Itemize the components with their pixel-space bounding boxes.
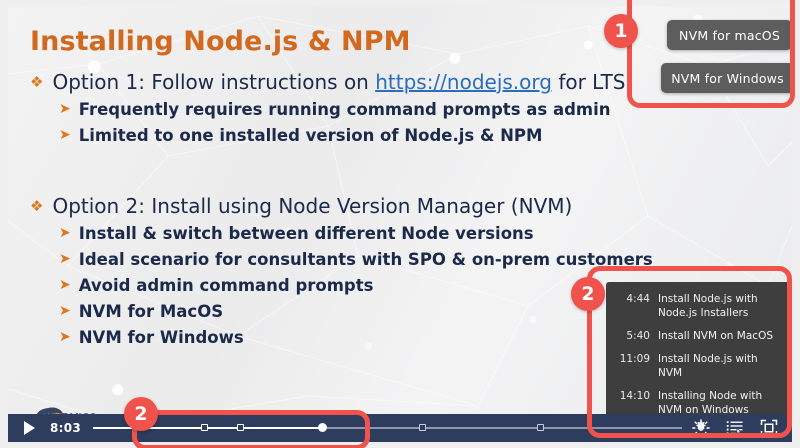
page-title: Installing Node.js & NPM bbox=[30, 26, 411, 57]
list-item-label: Frequently requires running command prom… bbox=[79, 98, 611, 121]
list-item-label: Ideal scenario for consultants with SPO … bbox=[79, 248, 653, 271]
list-item-label: NVM for Windows bbox=[79, 326, 244, 349]
list-item: ➤ NVM for Windows bbox=[59, 326, 653, 349]
progress-scrubber[interactable] bbox=[93, 414, 682, 442]
arrow-bullet-icon: ➤ bbox=[59, 222, 71, 245]
chapters-icon[interactable] bbox=[726, 419, 744, 437]
current-time-label: 8:03 bbox=[50, 421, 81, 435]
list-item: ➤ Ideal scenario for consultants with SP… bbox=[59, 248, 653, 271]
option-2-heading: ❖ Option 2: Install using Node Version M… bbox=[30, 193, 653, 219]
list-item-label: NVM for MacOS bbox=[79, 300, 223, 323]
option-1-heading-pre: Option 1: Follow instructions on bbox=[52, 70, 375, 94]
chapter-marker[interactable] bbox=[201, 424, 208, 431]
chapter-time: 14:10 bbox=[610, 389, 650, 417]
list-item-label: Limited to one installed version of Node… bbox=[79, 124, 543, 147]
list-item: ➤ Limited to one installed version of No… bbox=[59, 124, 625, 147]
list-item-label: Install & switch between different Node … bbox=[79, 222, 534, 245]
list-item: ➤ Install & switch between different Nod… bbox=[59, 222, 653, 245]
list-item-label: Avoid admin command prompts bbox=[79, 274, 374, 297]
chapter-time: 5:40 bbox=[610, 329, 650, 343]
option-2-block: ❖ Option 2: Install using Node Version M… bbox=[30, 193, 653, 349]
list-item[interactable]: 14:10 Installing Node with NVM on Window… bbox=[610, 389, 784, 417]
arrow-bullet-icon: ➤ bbox=[59, 248, 71, 271]
video-player-screen: Installing Node.js & NPM ❖ Option 1: Fol… bbox=[0, 0, 800, 448]
list-item[interactable]: 5:40 Install NVM on MacOS bbox=[610, 329, 784, 343]
annotation-badge-3: 2 bbox=[124, 397, 158, 431]
chapter-marker[interactable] bbox=[537, 424, 544, 431]
arrow-bullet-icon: ➤ bbox=[59, 300, 71, 323]
arrow-bullet-icon: ➤ bbox=[59, 98, 71, 121]
diamond-bullet-icon: ❖ bbox=[30, 193, 43, 219]
arrow-bullet-icon: ➤ bbox=[59, 124, 71, 147]
play-icon[interactable] bbox=[14, 414, 44, 442]
option-2-heading-label: Option 2: Install using Node Version Man… bbox=[52, 193, 572, 219]
chapter-marker[interactable] bbox=[237, 424, 244, 431]
annotation-badge-1: 1 bbox=[604, 14, 638, 48]
video-slide-canvas[interactable]: Installing Node.js & NPM ❖ Option 1: Fol… bbox=[8, 6, 792, 442]
chapter-label: Install Node.js with Node.js Installers bbox=[658, 292, 784, 320]
chapter-label: Install Node.js with NVM bbox=[658, 352, 784, 380]
option-1-block: ❖ Option 1: Follow instructions on https… bbox=[30, 69, 625, 147]
list-item[interactable]: 4:44 Install Node.js with Node.js Instal… bbox=[610, 292, 784, 320]
chapter-marker[interactable] bbox=[419, 424, 426, 431]
chapter-label: Install NVM on MacOS bbox=[658, 329, 784, 343]
option-1-heading: ❖ Option 1: Follow instructions on https… bbox=[30, 69, 625, 95]
arrow-bullet-icon: ➤ bbox=[59, 326, 71, 349]
annotation-badge-2: 2 bbox=[571, 277, 605, 311]
arrow-bullet-icon: ➤ bbox=[59, 274, 71, 297]
option-1-heading-post: for LTS bbox=[552, 70, 626, 94]
list-item[interactable]: 11:09 Install Node.js with NVM bbox=[610, 352, 784, 380]
list-item: ➤ Frequently requires running command pr… bbox=[59, 98, 625, 121]
chapter-time: 4:44 bbox=[610, 292, 650, 320]
nodejs-org-link[interactable]: https://nodejs.org bbox=[375, 70, 552, 94]
list-item: ➤ NVM for MacOS bbox=[59, 300, 653, 323]
nvm-for-macos-button[interactable]: NVM for macOS bbox=[667, 20, 792, 50]
chapters-overlay-panel[interactable]: 4:44 Install Node.js with Node.js Instal… bbox=[606, 282, 792, 430]
chapter-label: Installing Node with NVM on Windows bbox=[658, 389, 784, 417]
fullscreen-icon[interactable] bbox=[760, 419, 778, 437]
settings-icon[interactable] bbox=[692, 419, 710, 437]
player-right-controls bbox=[692, 419, 778, 437]
list-item: ➤ Avoid admin command prompts bbox=[59, 274, 653, 297]
chapter-time: 11:09 bbox=[610, 352, 650, 380]
playhead-handle[interactable] bbox=[318, 423, 327, 432]
nvm-for-windows-button[interactable]: NVM for Windows bbox=[661, 63, 792, 93]
diamond-bullet-icon: ❖ bbox=[30, 69, 43, 95]
